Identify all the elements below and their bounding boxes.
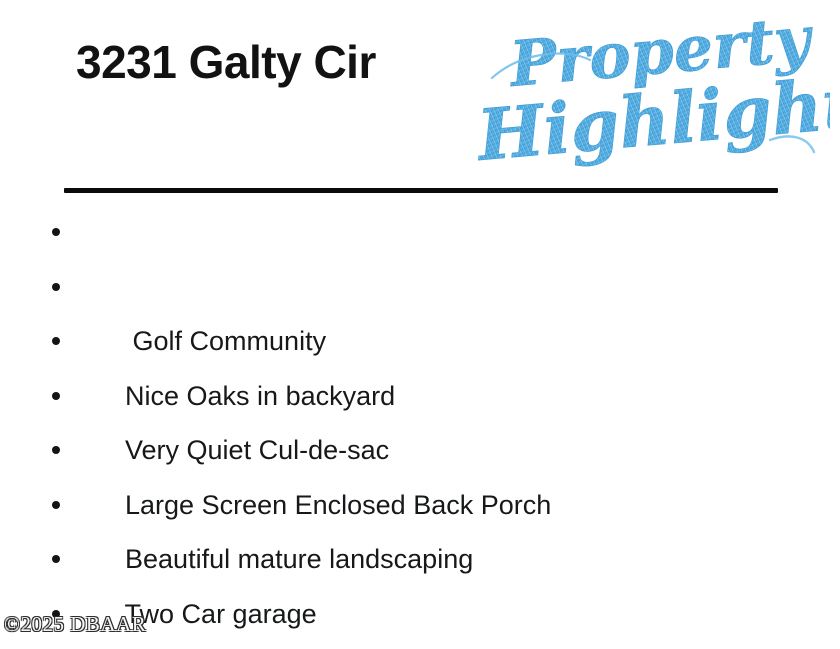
brush-flick-icon xyxy=(492,54,590,78)
divider xyxy=(64,188,778,193)
list-item: Beautiful mature landscaping xyxy=(46,423,786,478)
bullet-icon xyxy=(52,337,60,345)
bullet-icon xyxy=(52,501,60,509)
property-highlights-flyer: 3231 Galty Cir Property xyxy=(0,0,840,649)
list-item: Two Car garage xyxy=(46,478,786,533)
list-item: Very Quiet Cul-de-sac xyxy=(46,314,786,369)
list-item: High Ceiling in main center of home xyxy=(46,587,786,642)
bullet-icon xyxy=(52,283,60,291)
page-title: 3231 Galty Cir xyxy=(76,36,376,89)
script-logo-line-1-text: Property xyxy=(505,12,817,101)
script-logo-line-2: Highlights xyxy=(472,58,830,177)
bullet-icon xyxy=(52,228,60,236)
highlights-list: Golf Community Nice Oaks in backyard Ver… xyxy=(46,205,786,641)
copyright-watermark: ©2025 DBAAR xyxy=(4,612,146,637)
bullet-icon xyxy=(52,392,60,400)
brush-flick-icon xyxy=(770,136,814,152)
property-highlights-script-logo: Property Highlights xyxy=(470,12,830,187)
list-item: Nice Oaks in backyard xyxy=(46,260,786,315)
bullet-icon xyxy=(52,446,60,454)
script-logo-line-1: Property xyxy=(505,12,817,101)
script-logo-line-2-text: Highlights xyxy=(472,58,830,177)
list-item: Golf Community xyxy=(46,205,786,260)
bullet-icon xyxy=(52,555,60,563)
list-item: Home has been well maintained xyxy=(46,532,786,587)
list-item: Large Screen Enclosed Back Porch xyxy=(46,369,786,424)
